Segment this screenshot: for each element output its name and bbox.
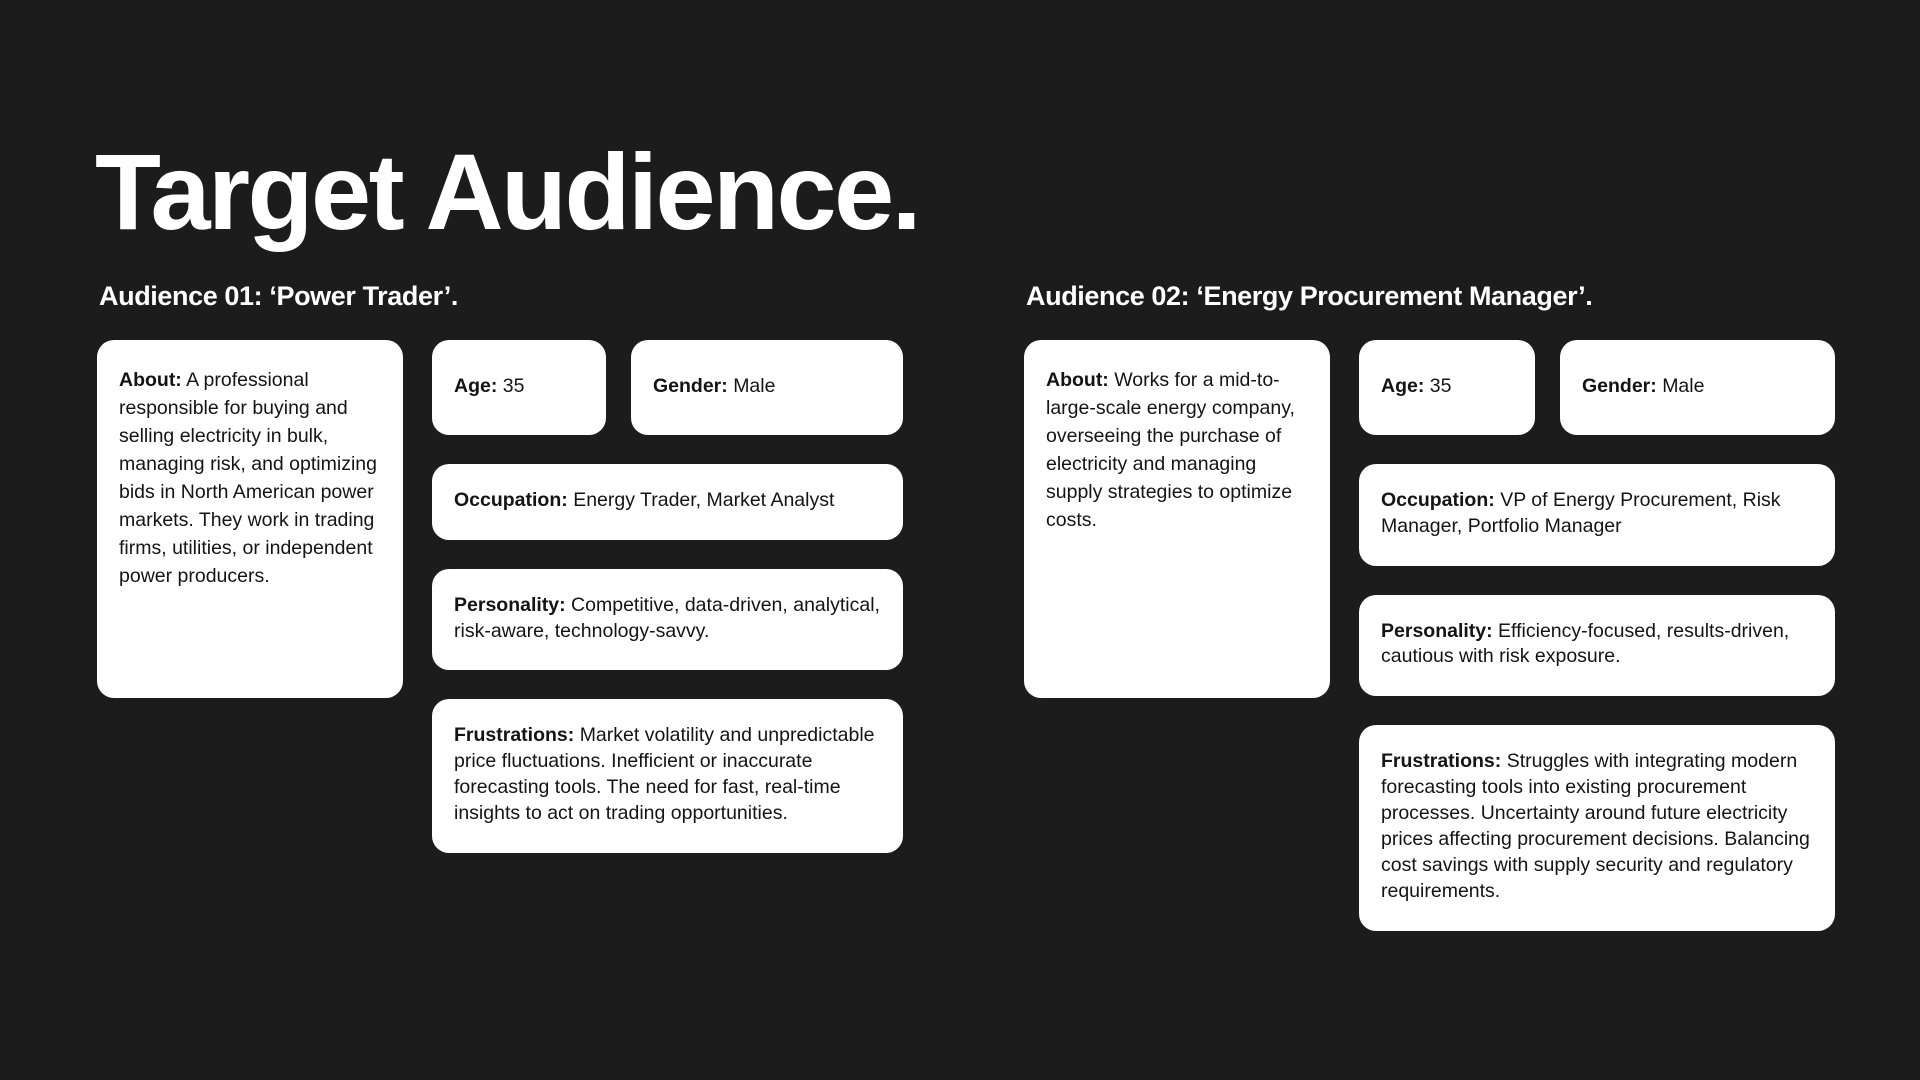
frustrations-text: Frustrations: Market volatility and unpr… [454, 723, 881, 827]
about-text: About: A professional responsible for bu… [119, 366, 381, 591]
personality-text: Personality: Competitive, data-driven, a… [454, 593, 881, 645]
audience-2-detail-stack: Age: 35 Gender: Male Occupation: VP of E… [1359, 340, 1835, 931]
gender-label: Gender: [653, 375, 728, 397]
audience-2-occupation-card: Occupation: VP of Energy Procurement, Ri… [1359, 464, 1835, 566]
audience-2-personality-card: Personality: Efficiency-focused, results… [1359, 595, 1835, 697]
occupation-label: Occupation: [454, 489, 568, 511]
audience-2-pill-row: Age: 35 Gender: Male [1359, 340, 1835, 435]
audience-2-frustrations-card: Frustrations: Struggles with integrating… [1359, 725, 1835, 931]
gender-value: Male [733, 375, 775, 397]
about-value: Works for a mid-to-large-scale energy co… [1046, 369, 1295, 531]
audience-1-age-card: Age: 35 [432, 340, 606, 435]
age-label: Age: [1381, 375, 1424, 397]
frustrations-text: Frustrations: Struggles with integrating… [1381, 749, 1813, 905]
audience-2-about-card: About: Works for a mid-to-large-scale en… [1024, 340, 1330, 698]
audience-1-detail-stack: Age: 35 Gender: Male Occupation: Energy … [432, 340, 903, 853]
personality-text: Personality: Efficiency-focused, results… [1381, 619, 1813, 671]
about-value: A professional responsible for buying an… [119, 369, 377, 588]
occupation-value: Energy Trader, Market Analyst [573, 489, 834, 511]
audience-1-gender-card: Gender: Male [631, 340, 903, 435]
audience-1-frustrations-card: Frustrations: Market volatility and unpr… [432, 699, 903, 853]
audience-1-body: About: A professional responsible for bu… [97, 340, 903, 853]
page-title: Target Audience. [95, 138, 919, 246]
frustrations-label: Frustrations: [454, 724, 574, 746]
occupation-label: Occupation: [1381, 489, 1495, 511]
audience-column-1: Audience 01: ‘Power Trader’. About: A pr… [97, 282, 903, 853]
age-text: Age: 35 [454, 375, 524, 398]
frustrations-value: Struggles with integrating modern foreca… [1381, 750, 1810, 902]
audience-2-age-card: Age: 35 [1359, 340, 1535, 435]
age-label: Age: [454, 375, 497, 397]
gender-label: Gender: [1582, 375, 1657, 397]
audience-1-pill-row: Age: 35 Gender: Male [432, 340, 903, 435]
audience-2-heading: Audience 02: ‘Energy Procurement Manager… [1026, 282, 1835, 312]
frustrations-label: Frustrations: [1381, 750, 1501, 772]
personality-label: Personality: [1381, 620, 1493, 642]
audience-1-heading: Audience 01: ‘Power Trader’. [99, 282, 903, 312]
age-text: Age: 35 [1381, 375, 1451, 398]
about-label: About: [119, 369, 182, 391]
audience-column-2: Audience 02: ‘Energy Procurement Manager… [1024, 282, 1835, 931]
slide-root: Target Audience. Audience 01: ‘Power Tra… [0, 0, 1920, 1080]
gender-text: Gender: Male [1582, 375, 1704, 398]
audience-1-about-card: About: A professional responsible for bu… [97, 340, 403, 698]
about-text: About: Works for a mid-to-large-scale en… [1046, 366, 1308, 534]
audience-1-occupation-card: Occupation: Energy Trader, Market Analys… [432, 464, 903, 540]
personality-label: Personality: [454, 594, 566, 616]
about-label: About: [1046, 369, 1109, 391]
audience-2-body: About: Works for a mid-to-large-scale en… [1024, 340, 1835, 931]
gender-text: Gender: Male [653, 375, 775, 398]
audience-2-gender-card: Gender: Male [1560, 340, 1835, 435]
occupation-text: Occupation: Energy Trader, Market Analys… [454, 488, 881, 514]
occupation-text: Occupation: VP of Energy Procurement, Ri… [1381, 488, 1813, 540]
gender-value: Male [1662, 375, 1704, 397]
age-value: 35 [503, 375, 525, 397]
age-value: 35 [1430, 375, 1452, 397]
audience-1-personality-card: Personality: Competitive, data-driven, a… [432, 569, 903, 671]
